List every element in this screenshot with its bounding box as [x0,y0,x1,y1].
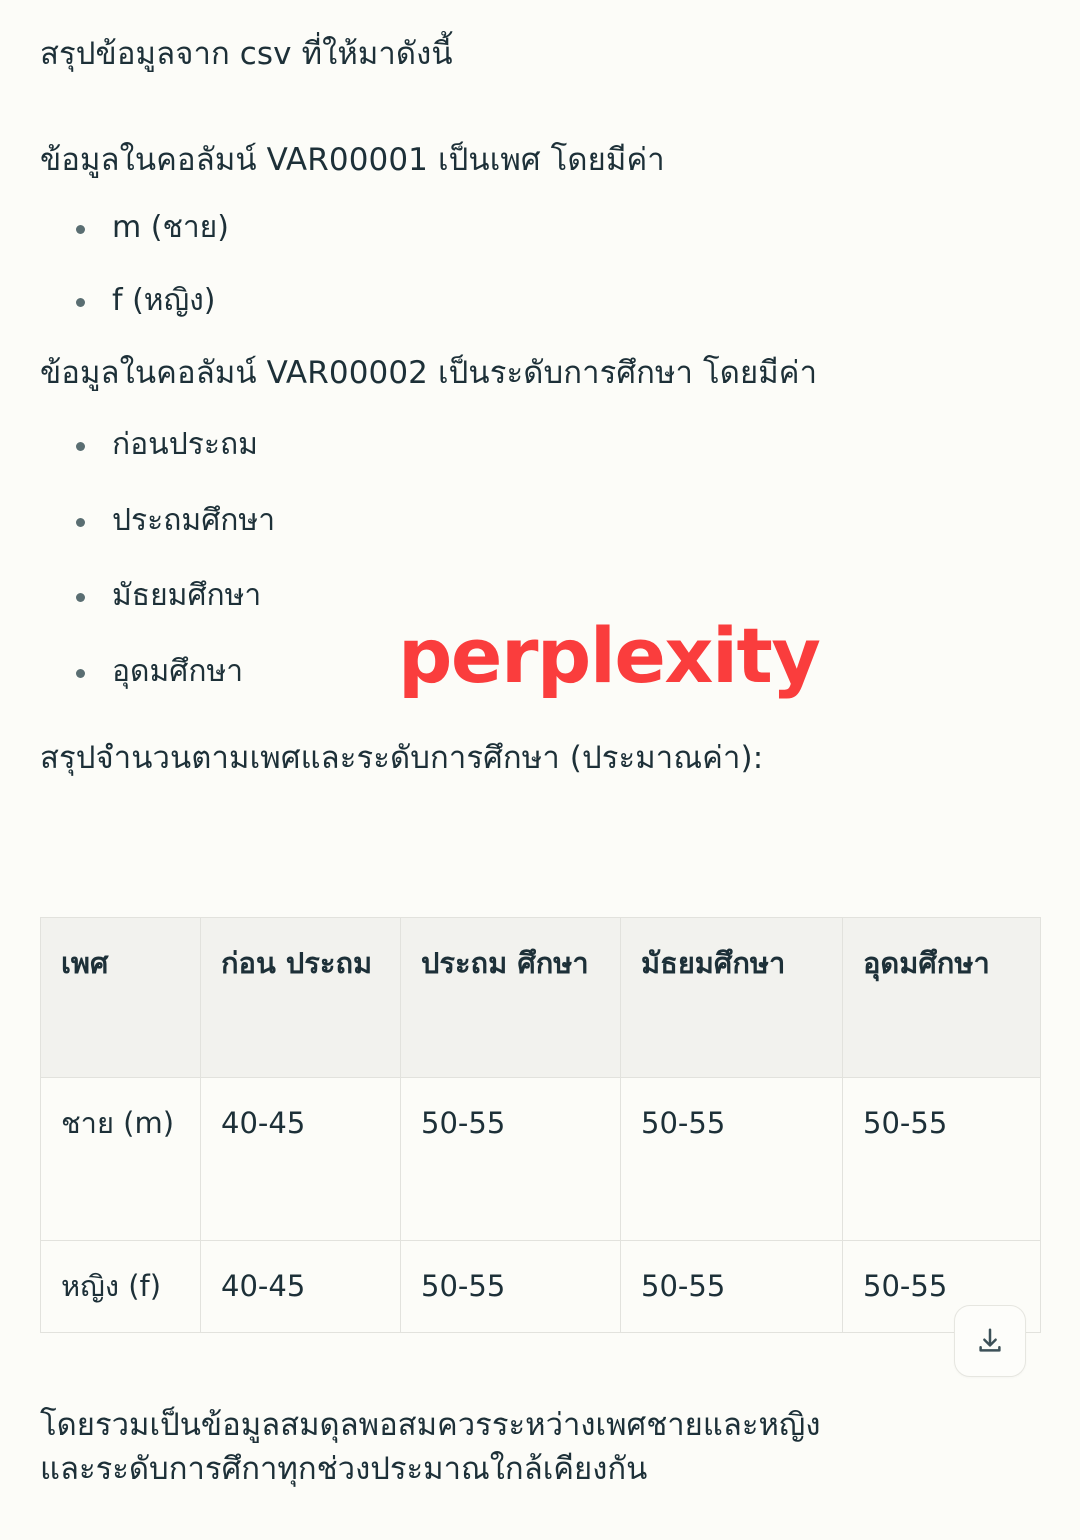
download-icon [975,1326,1005,1356]
cell-secondary: 50-55 [621,1241,843,1333]
closing-line-1: โดยรวมเป็นข้อมูลสมดุลพอสมควรระหว่างเพศชา… [40,1407,820,1443]
table-header-row: เพศ ก่อน ประถม ประถม ศึกษา มัธยมศึกษา อุ… [41,918,1041,1078]
bullet-dot-icon [76,593,85,602]
closing-line-2: และระดับการศึกาทุกช่วงประมาณใกล้เคียงกัน [40,1447,1040,1491]
perplexity-watermark: perplexity [398,618,819,694]
gender-values-list: m (ชาย) f (หญิง) [40,182,1040,321]
cell-secondary: 50-55 [621,1078,843,1241]
cell-primary: 50-55 [401,1078,621,1241]
list-item: m (ชาย) [40,208,1040,249]
bullet-dot-icon [76,225,85,234]
bullet-dot-icon [76,518,85,527]
cell-pre-primary: 40-45 [201,1078,401,1241]
list-item-label: ประถมศึกษา [112,503,275,538]
list-item-label: อุดมศึกษา [112,654,243,689]
list-item: ประถมศึกษา [40,501,1040,542]
list-item-label: มัธยมศึกษา [112,578,261,613]
table-row: หญิง (f) 40-45 50-55 50-55 50-55 [41,1241,1041,1333]
column-header-primary: ประถม ศึกษา [401,918,621,1078]
column-header-secondary: มัธยมศึกษา [621,918,843,1078]
list-item-label: m (ชาย) [112,210,229,245]
download-table-button[interactable] [954,1305,1026,1377]
cell-primary: 50-55 [401,1241,621,1333]
list-item-label: f (หญิง) [112,283,216,318]
list-item: ก่อนประถม [40,425,1040,466]
education-column-intro: ข้อมูลในคอลัมน์ VAR00002 เป็นระดับการศึก… [40,321,1040,395]
cell-gender: หญิง (f) [41,1241,201,1333]
cell-gender: ชาย (m) [41,1078,201,1241]
column-header-pre-primary: ก่อน ประถม [201,918,401,1078]
table-caption: สรุปจำนวนตามเพศและระดับการศึกษา (ประมาณค… [40,692,1040,780]
bullet-dot-icon [76,669,85,678]
summary-table-container: เพศ ก่อน ประถม ประถม ศึกษา มัธยมศึกษา อุ… [40,917,1040,1333]
cell-pre-primary: 40-45 [201,1241,401,1333]
cell-tertiary: 50-55 [843,1078,1041,1241]
summary-table: เพศ ก่อน ประถม ประถม ศึกษา มัธยมศึกษา อุ… [40,917,1041,1333]
column-header-gender: เพศ [41,918,201,1078]
bullet-dot-icon [76,442,85,451]
intro-line-1: สรุปข้อมูลจาก csv ที่ให้มาดังนี้ [40,0,1040,76]
answer-page: สรุปข้อมูลจาก csv ที่ให้มาดังนี้ ข้อมูลใ… [0,0,1080,1540]
closing-paragraph: โดยรวมเป็นข้อมูลสมดุลพอสมควรระหว่างเพศชา… [40,1403,1040,1491]
list-item-label: ก่อนประถม [112,427,258,462]
table-row: ชาย (m) 40-45 50-55 50-55 50-55 [41,1078,1041,1241]
bullet-dot-icon [76,298,85,307]
gender-column-intro: ข้อมูลในคอลัมน์ VAR00001 เป็นเพศ โดยมีค่… [40,76,1040,182]
column-header-tertiary: อุดมศึกษา [843,918,1041,1078]
list-item: f (หญิง) [40,281,1040,322]
